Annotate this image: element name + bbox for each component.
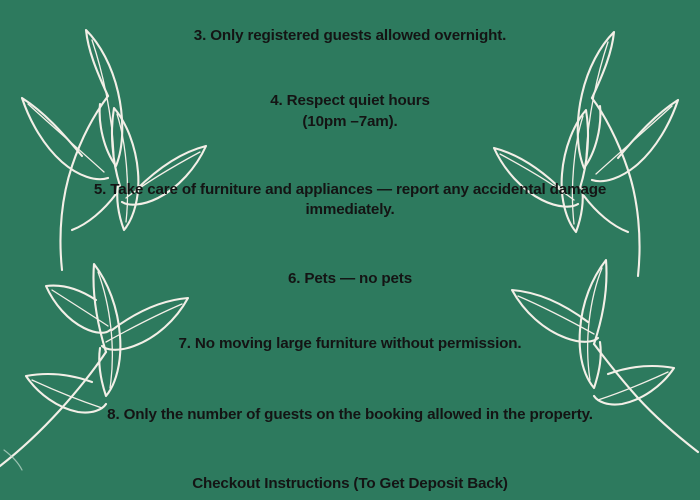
- house-rule-3: 3. Only registered guests allowed overni…: [36, 26, 664, 46]
- house-rules-poster: 3. Only registered guests allowed overni…: [0, 0, 700, 500]
- checkout-instructions-heading: Checkout Instructions (To Get Deposit Ba…: [36, 474, 664, 494]
- house-rule-7: 7. No moving large furniture without per…: [36, 334, 664, 354]
- poster-text-content: 3. Only registered guests allowed overni…: [0, 0, 700, 500]
- house-rule-6: 6. Pets — no pets: [36, 269, 664, 289]
- house-rule-5: 5. Take care of furniture and appliances…: [36, 180, 664, 221]
- house-rule-8: 8. Only the number of guests on the book…: [36, 405, 664, 425]
- house-rule-4: 4. Respect quiet hours (10pm –7am).: [36, 91, 664, 132]
